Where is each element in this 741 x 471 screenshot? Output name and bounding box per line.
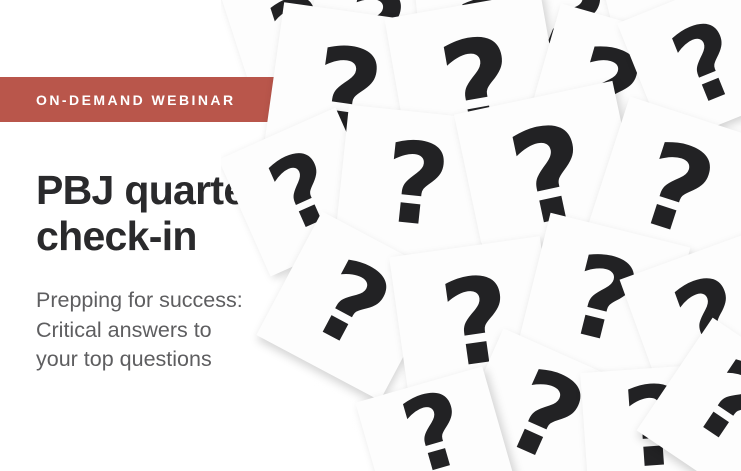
- question-mark-glyph: ?: [679, 343, 741, 465]
- eyebrow-banner: ON-DEMAND WEBINAR: [0, 77, 295, 122]
- eyebrow-label: ON-DEMAND WEBINAR: [36, 92, 236, 108]
- question-mark-glyph: ?: [378, 126, 454, 244]
- question-mark-glyph: ?: [393, 377, 478, 471]
- subhead-line-3: your top questions: [36, 345, 326, 375]
- webinar-promo-banner: ????????????????????? ON-DEMAND WEBINAR …: [0, 0, 741, 471]
- headline-line-2: check-in: [36, 213, 197, 259]
- question-mark-glyph: ?: [661, 6, 741, 123]
- question-mark-glyph: ?: [298, 244, 404, 369]
